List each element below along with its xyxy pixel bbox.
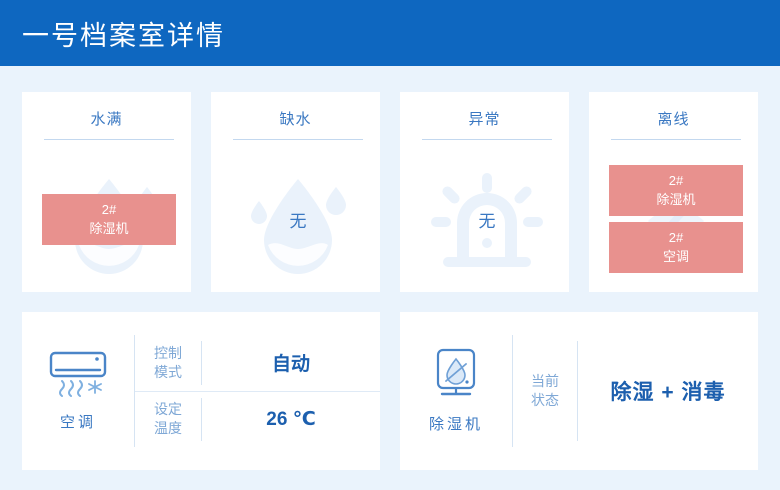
title-divider <box>611 139 741 140</box>
device-card-air-conditioner[interactable]: 空调 控制 模式 自动 设定 温度 <box>22 312 380 470</box>
device-row-label-line2: 温度 <box>135 419 201 438</box>
device-rows: 控制 模式 自动 设定 温度 26 ℃ <box>135 335 380 447</box>
status-badge[interactable]: 2# 除湿机 <box>42 194 176 245</box>
device-row-label-line2: 状态 <box>513 391 577 410</box>
status-card-water-shortage[interactable]: 缺水 无 <box>211 92 380 292</box>
status-badge-list: 2# 除湿机 2# 空调 <box>589 146 758 292</box>
device-row-current-status: 当前 状态 除湿 + 消毒 <box>513 335 758 447</box>
device-label: 空调 <box>60 411 96 432</box>
status-card-title: 水满 <box>22 92 191 129</box>
status-badge-id: 2# <box>609 171 743 190</box>
device-icon-column: 除湿机 <box>400 348 512 434</box>
status-badge-list: 2# 除湿机 <box>22 146 191 292</box>
device-row-label: 设定 温度 <box>135 400 201 438</box>
dehumidifier-icon <box>429 348 483 405</box>
page-title: 一号档案室详情 <box>22 14 225 53</box>
status-card-title: 缺水 <box>211 92 380 129</box>
device-row-label-line1: 设定 <box>135 400 201 419</box>
title-divider <box>44 139 174 140</box>
status-badge-name: 空调 <box>609 247 743 266</box>
device-rows: 当前 状态 除湿 + 消毒 <box>513 335 758 447</box>
status-card-abnormal[interactable]: 异常 无 <box>400 92 569 292</box>
device-icon-column: 空调 <box>22 350 134 432</box>
status-empty-text: 无 <box>400 146 569 292</box>
status-card-offline[interactable]: 离线 2# 除湿机 2# 空调 <box>589 92 758 292</box>
status-empty-text: 无 <box>211 146 380 292</box>
status-card-row: 水满 2# 除湿机 缺水 <box>22 92 758 292</box>
device-card-row: 空调 控制 模式 自动 设定 温度 <box>22 312 758 470</box>
device-row-label-line1: 控制 <box>135 344 201 363</box>
device-row-label: 控制 模式 <box>135 344 201 382</box>
device-row-label-line2: 模式 <box>135 363 201 382</box>
app-root: 一号档案室详情 水满 2# 除湿机 <box>0 0 780 490</box>
status-badge-name: 除湿机 <box>42 219 176 238</box>
device-row-set-temperature: 设定 温度 26 ℃ <box>135 391 380 448</box>
status-badge-id: 2# <box>609 228 743 247</box>
device-label: 除湿机 <box>429 413 483 434</box>
status-card-title: 离线 <box>589 92 758 129</box>
status-badge[interactable]: 2# 除湿机 <box>609 165 743 216</box>
device-row-label: 当前 状态 <box>513 372 577 410</box>
title-divider <box>233 139 363 140</box>
status-badge-name: 除湿机 <box>609 190 743 209</box>
status-card-water-full[interactable]: 水满 2# 除湿机 <box>22 92 191 292</box>
device-card-dehumidifier[interactable]: 除湿机 当前 状态 除湿 + 消毒 <box>400 312 758 470</box>
device-row-value: 自动 <box>202 349 380 376</box>
status-badge-id: 2# <box>42 200 176 219</box>
device-row-value: 除湿 + 消毒 <box>578 376 758 406</box>
device-row-label-line1: 当前 <box>513 372 577 391</box>
status-card-title: 异常 <box>400 92 569 129</box>
device-row-value: 26 ℃ <box>202 408 380 431</box>
status-badge[interactable]: 2# 空调 <box>609 222 743 273</box>
title-divider <box>422 139 552 140</box>
device-row-control-mode: 控制 模式 自动 <box>135 335 380 391</box>
air-conditioner-icon <box>47 350 109 403</box>
page-header: 一号档案室详情 <box>0 0 780 66</box>
